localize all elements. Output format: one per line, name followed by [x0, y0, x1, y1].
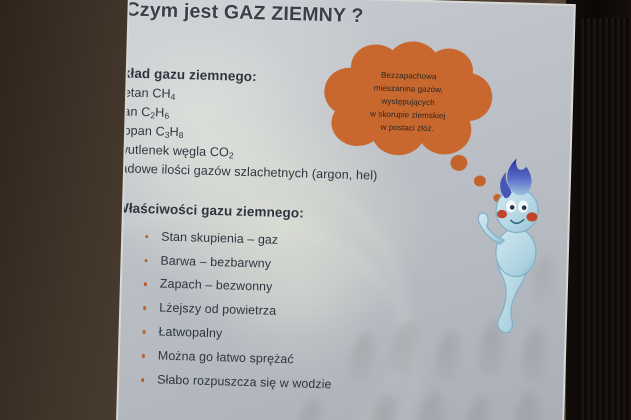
thought-bubble: Bezzapachowa mieszanina gazów, występują… — [323, 43, 494, 160]
properties-heading: Właściwości gazu ziemnego: — [118, 198, 476, 228]
photo-of-projected-slide: Czym jest GAZ ZIEMNY ? Skład gazu ziemne… — [0, 0, 631, 420]
slide-surface: Czym jest GAZ ZIEMNY ? Skład gazu ziemne… — [118, 0, 574, 420]
properties-list: Stan skupienia – gaz Barwa – bezbarwny Z… — [118, 224, 476, 402]
dark-curtain — [578, 18, 631, 420]
thought-bubble-text: Bezzapachowa mieszanina gazów, występują… — [339, 68, 477, 137]
genie-torso — [495, 228, 536, 277]
blue-flame-genie-character — [466, 155, 557, 337]
slide-content: Czym jest GAZ ZIEMNY ? Skład gazu ziemne… — [118, 0, 574, 420]
projection-screen: Czym jest GAZ ZIEMNY ? Skład gazu ziemne… — [0, 0, 580, 420]
genie-illustration — [466, 155, 557, 337]
properties-block: Właściwości gazu ziemnego: Stan skupieni… — [118, 198, 476, 401]
slide-title: Czym jest GAZ ZIEMNY ? — [125, 0, 545, 33]
bubble-tail-dot-large — [450, 155, 467, 171]
